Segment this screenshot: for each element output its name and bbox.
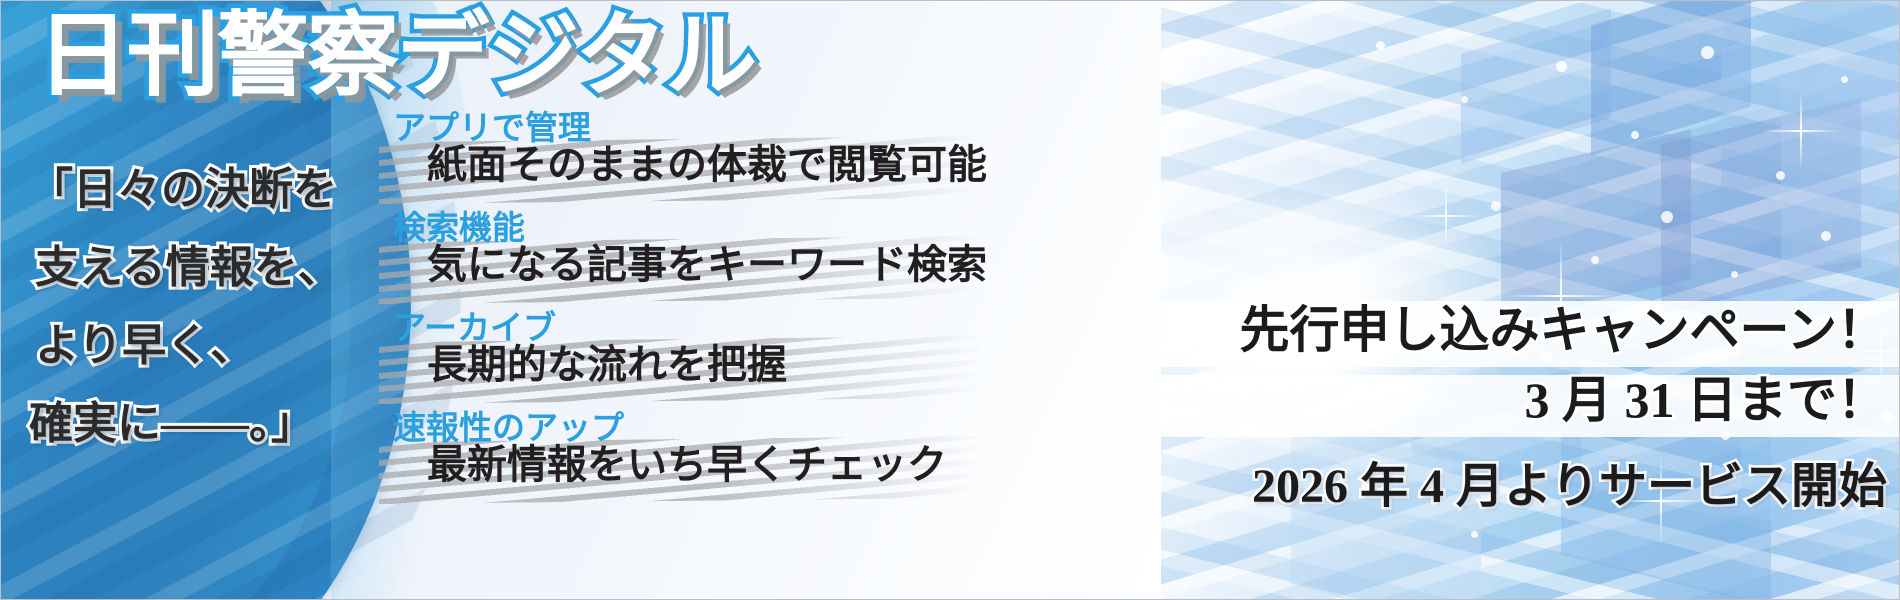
banner-title: 日刊警察デジタル 日刊警察デジタル: [37, 7, 755, 106]
campaign-line-3: 2026 年 4 月よりサービス開始: [1161, 457, 1900, 517]
feature-list: アプリで管理 紙面そのままの体裁で閲覧可能 検索機能 気になる記事をキーワード検…: [393, 113, 953, 513]
bokeh-dot: [1821, 231, 1831, 241]
promo-banner: 日刊警察デジタル 日刊警察デジタル 「日々の決断を 支える情報を、 より早く、 …: [0, 0, 1900, 600]
feature-item: 速報性のアップ 最新情報をいち早くチェック: [393, 413, 953, 513]
feature-description: 紙面そのままの体裁で閲覧可能: [427, 143, 987, 187]
bokeh-dot: [1731, 271, 1738, 278]
bokeh-dot: [1841, 76, 1848, 83]
feature-item: アーカイブ 長期的な流れを把握: [393, 313, 953, 413]
tagline-line-3: より早く、: [25, 307, 355, 385]
tagline-line-1: 「日々の決断を: [25, 151, 355, 229]
campaign-block: 先行申し込みキャンペーン！ 3 月 31 日まで！ 2026 年 4 月よりサー…: [1161, 291, 1900, 591]
bokeh-dot: [1631, 131, 1639, 139]
bokeh-dot: [1591, 256, 1599, 264]
bokeh-dot: [1461, 96, 1468, 103]
sparkle-icon: [1411, 181, 1481, 251]
feature-item: 検索機能 気になる記事をキーワード検索: [393, 213, 953, 313]
banner-title-fill: 日刊警察デジタル: [37, 7, 755, 106]
campaign-line-1: 先行申し込みキャンペーン！: [1161, 299, 1900, 361]
bokeh-dot: [1701, 46, 1714, 59]
bokeh-dot: [1661, 211, 1673, 223]
feature-description: 気になる記事をキーワード検索: [427, 243, 987, 287]
bokeh-dot: [1491, 201, 1501, 211]
tagline-line-2: 支える情報を、: [25, 229, 355, 307]
bokeh-dot: [1556, 61, 1567, 72]
bokeh-dot: [1376, 41, 1385, 50]
tagline-quote: 「日々の決断を 支える情報を、 より早く、 確実に――。」: [25, 151, 355, 463]
feature-description: 最新情報をいち早くチェック: [427, 443, 947, 487]
sparkle-icon: [1761, 91, 1841, 171]
campaign-line-2: 3 月 31 日まで！: [1161, 369, 1900, 431]
tagline-line-4: 確実に――。」: [25, 385, 355, 463]
bokeh-dot: [1776, 171, 1785, 180]
feature-item: アプリで管理 紙面そのままの体裁で閲覧可能: [393, 113, 953, 213]
feature-description: 長期的な流れを把握: [427, 343, 787, 387]
